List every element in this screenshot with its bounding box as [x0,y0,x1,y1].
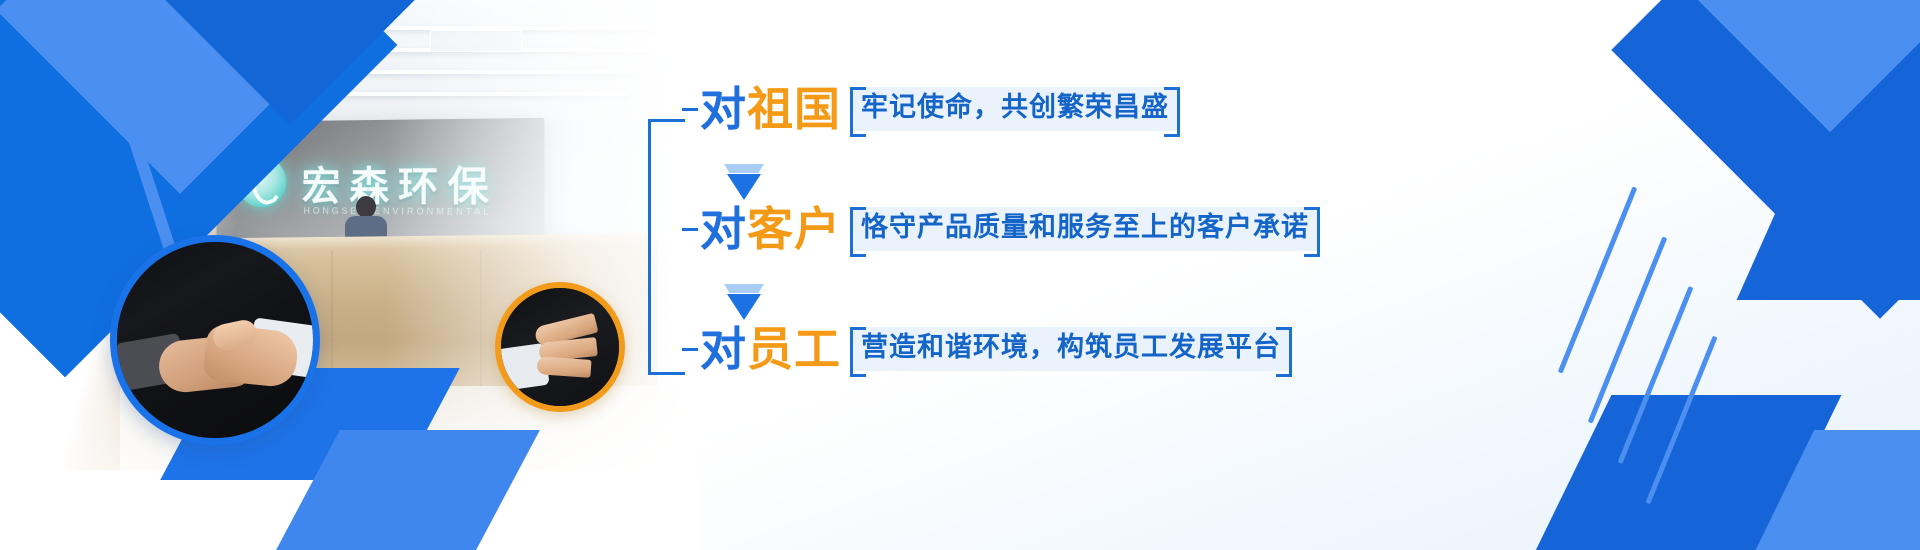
value-row-2: 对客户 恪守产品质量和服务至上的客户承诺 [682,206,1320,252]
company-values-banner: 宏森环保 HONGSEN ENVIRONMENTAL [0,0,1920,550]
handshake-photo [110,235,320,445]
company-name-sign-subtitle: HONGSEN ENVIRONMENTAL [304,206,492,217]
value-row-1: 对祖国 牢记使命，共创繁荣昌盛 [682,86,1180,132]
row-dash-icon [682,228,698,231]
value-lead-subject-2: 客户 [747,202,841,256]
value-lead-subject-1: 祖国 [747,82,841,136]
bracket-connector [648,119,685,375]
value-lead-prefix-1: 对 [700,82,747,136]
applause-photo [495,282,625,412]
row-dash-icon [682,108,698,111]
decor-thin-line-1 [1558,186,1638,373]
value-statement-3: 营造和谐环境，构筑员工发展平台 [850,327,1292,370]
value-lead-3: 对员工 [700,326,841,372]
value-lead-prefix-2: 对 [700,202,747,256]
row-dash-icon [682,348,698,351]
value-statement-2: 恪守产品质量和服务至上的客户承诺 [850,207,1320,250]
value-lead-prefix-3: 对 [700,322,747,376]
value-lead-1: 对祖国 [700,86,841,132]
value-row-3: 对员工 营造和谐环境，构筑员工发展平台 [682,326,1292,372]
value-statement-1: 牢记使命，共创繁荣昌盛 [850,87,1180,130]
company-name-sign: 宏森环保 [302,153,498,212]
value-lead-subject-3: 员工 [747,322,841,376]
values-list: 对祖国 牢记使命，共创繁荣昌盛 对客户 恪守产品质量和服务至上的客户承诺 对员工… [648,64,1408,484]
value-lead-2: 对客户 [700,206,841,252]
